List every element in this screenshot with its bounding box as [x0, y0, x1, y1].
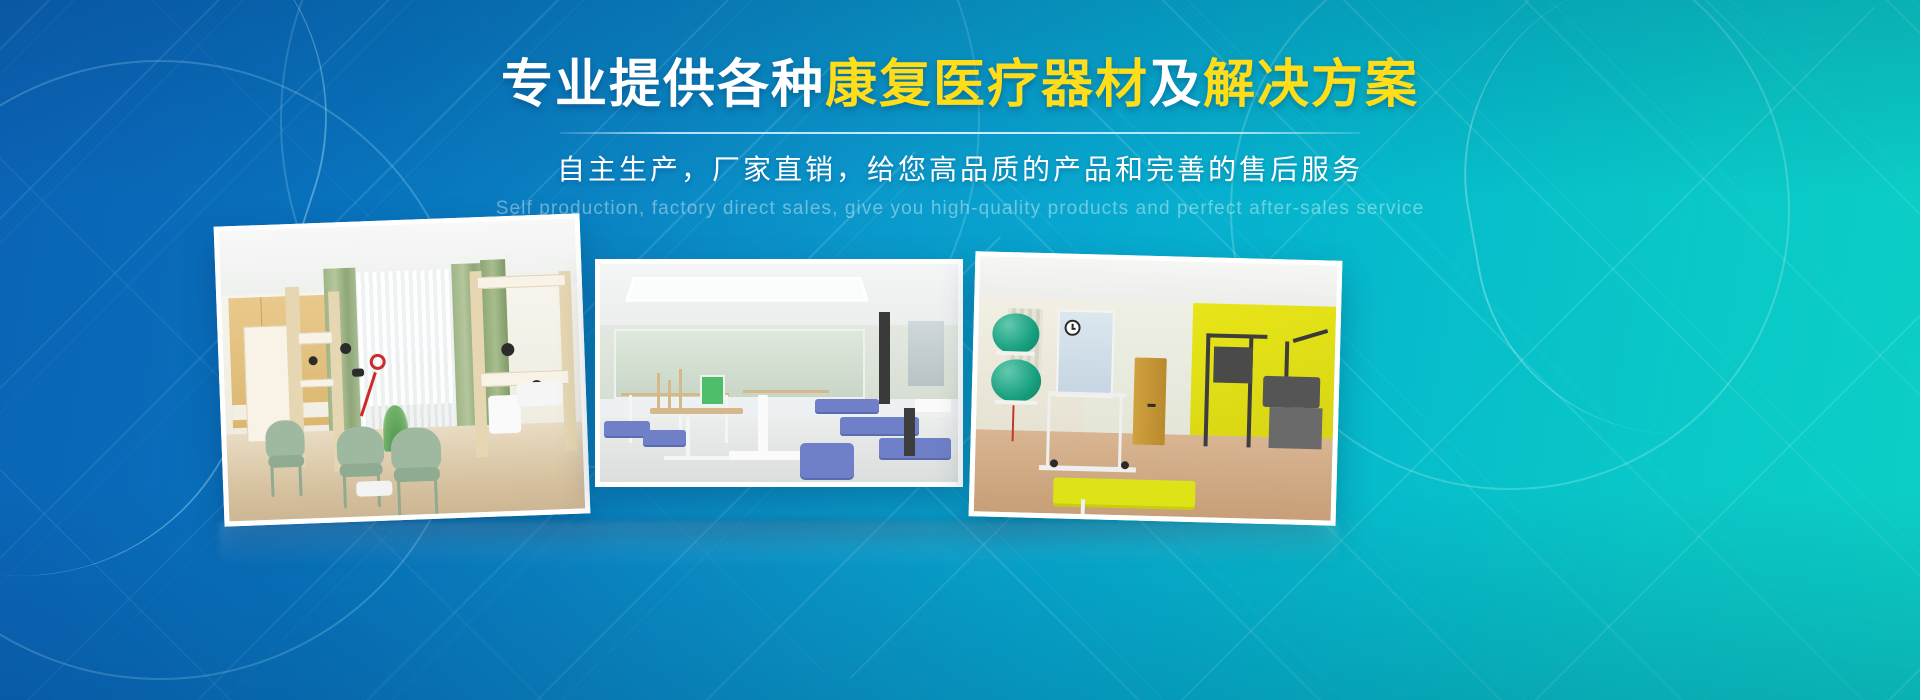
- room2-peg-1: [657, 373, 660, 408]
- room2-therapy-bed-3: [815, 399, 879, 412]
- photo-2-content: [600, 264, 958, 482]
- room2-white-stand: [758, 395, 769, 452]
- photo-3-content: [974, 256, 1338, 520]
- photo-1-content: [219, 219, 585, 522]
- room1-chair-3: [390, 427, 443, 516]
- photo-panels: [0, 0, 1920, 700]
- room3-wall-clock: [1064, 320, 1080, 336]
- room1-frame-crossbar-2: [299, 378, 335, 388]
- room3-window: [1055, 309, 1114, 397]
- room2-work-table-foot: [664, 456, 728, 460]
- room2-peg-2: [668, 380, 671, 408]
- room1-chair-1-leg-l: [271, 466, 275, 496]
- room1-red-target-ring: [369, 353, 386, 370]
- room1-knob-3: [501, 343, 514, 356]
- room2-work-table-leg: [686, 417, 690, 461]
- room1-pad: [516, 382, 563, 407]
- photo-panel-rehabilitation-gym-hall[interactable]: [595, 259, 963, 487]
- room2-therapy-bed-5: [879, 438, 951, 458]
- room2-dark-column: [879, 312, 890, 404]
- room3-weight-stack: [1213, 347, 1253, 384]
- room3-machine-frame: [1268, 407, 1323, 449]
- room1-frame-crossbar: [297, 332, 333, 345]
- room2-dark-machine-arm: [904, 408, 915, 456]
- room2-green-board: [700, 375, 725, 406]
- room2-floor-rail: [729, 451, 801, 460]
- room3-table-leg: [1081, 499, 1085, 514]
- room3-yellow-treatment-table: [1052, 478, 1195, 507]
- photo-panel-rehabilitation-equipment-room[interactable]: [969, 251, 1343, 526]
- room2-therapy-chair: [800, 443, 854, 478]
- room2-ceiling-light-panel: [625, 277, 869, 302]
- room2-window: [908, 321, 944, 386]
- photo-panel-rehabilitation-training-room[interactable]: [214, 213, 591, 526]
- room1-chair-1-leg-r: [299, 465, 303, 495]
- room2-therapy-bed-2: [643, 430, 686, 445]
- room2-bar-leg-3: [725, 395, 728, 443]
- room2-parallel-bar-b: [743, 390, 829, 393]
- promo-banner: 专业提供各种康复医疗器材及解决方案 自主生产，厂家直销，给您高品质的产品和完善的…: [0, 0, 1920, 700]
- room1-chair-3-leg-l: [397, 480, 401, 515]
- room1-chair-2-leg-l: [343, 476, 347, 509]
- panels-reflection: [219, 522, 1339, 568]
- room3-tilt-table-handle: [1148, 404, 1156, 407]
- room2-mirror: [614, 329, 865, 399]
- room3-wood-tilt-table: [1133, 357, 1167, 444]
- room1-chair-1: [265, 420, 307, 497]
- room1-handle-1: [352, 368, 364, 376]
- room2-white-equipment: [915, 399, 951, 412]
- room1-chair-3-leg-r: [434, 479, 438, 514]
- room2-work-table-top: [650, 408, 743, 414]
- room3-machine-seat-pad: [1262, 376, 1320, 408]
- room2-peg-3: [679, 369, 682, 408]
- room3-green-exercise-ball-upper: [992, 313, 1039, 355]
- room1-white-stool: [356, 481, 392, 497]
